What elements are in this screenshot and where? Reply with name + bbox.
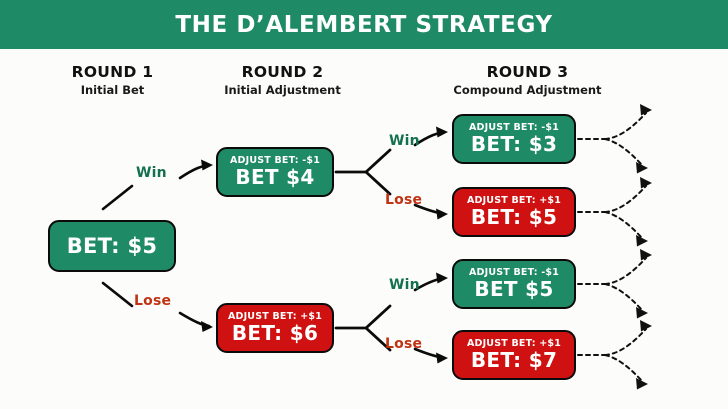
- arrow-r1-to-r2-win: [180, 165, 209, 178]
- outcome-label-round3-branch3: Win: [389, 278, 420, 292]
- connector-lines: [0, 0, 728, 409]
- continuation-arrowheads: [636, 104, 652, 390]
- bet-amount-round3-3: BET $5: [474, 279, 553, 300]
- round-3-header: ROUND 3 Compound Adjustment: [400, 64, 655, 97]
- arrow-r1-to-r2-lose: [180, 313, 209, 326]
- round-1-header: ROUND 1 Initial Bet: [20, 64, 205, 97]
- round-1-title: ROUND 1: [20, 64, 205, 82]
- bet-amount-round2-lose: BET: $6: [232, 323, 318, 344]
- bet-box-round3-3[interactable]: ADJUST BET: -$1 BET $5: [452, 259, 576, 309]
- round-2-subtitle: Initial Adjustment: [190, 84, 375, 97]
- title-banner: THE D’ALEMBERT STRATEGY: [0, 0, 728, 49]
- bet-amount-round2-win: BET $4: [235, 167, 314, 188]
- page-title: THE D’ALEMBERT STRATEGY: [175, 12, 552, 38]
- arrowhead-r3-2: [436, 209, 448, 220]
- bet-box-round1[interactable]: BET: $5: [48, 220, 176, 272]
- arrowhead-r3-3: [436, 273, 448, 284]
- bet-amount-round3-1: BET: $3: [471, 134, 557, 155]
- bet-amount-round1: BET: $5: [67, 235, 158, 257]
- round1-win-stub: [103, 186, 132, 209]
- bet-box-round3-2[interactable]: ADJUST BET: +$1 BET: $5: [452, 187, 576, 237]
- bet-amount-round3-4: BET: $7: [471, 350, 557, 371]
- fork-down-r2-win: [366, 172, 390, 194]
- arrowhead-r3-4: [436, 353, 448, 364]
- round-3-title: ROUND 3: [400, 64, 655, 82]
- round-2-title: ROUND 2: [190, 64, 375, 82]
- outcome-label-round1-win: Win: [136, 166, 167, 180]
- fork-up-r2-win: [366, 150, 390, 172]
- adjust-label-round2-win: ADJUST BET: -$1: [230, 156, 320, 166]
- adjust-label-round2-lose: ADJUST BET: +$1: [228, 312, 322, 322]
- outcome-label-round3-branch2: Lose: [385, 193, 422, 207]
- bet-amount-round3-2: BET: $5: [471, 207, 557, 228]
- bet-box-round3-1[interactable]: ADJUST BET: -$1 BET: $3: [452, 114, 576, 164]
- arrowhead-r1-win: [201, 160, 213, 171]
- bet-box-round3-4[interactable]: ADJUST BET: +$1 BET: $7: [452, 330, 576, 380]
- round-1-subtitle: Initial Bet: [20, 84, 205, 97]
- fork-up-r2-lose: [366, 306, 390, 328]
- bet-box-round2-win[interactable]: ADJUST BET: -$1 BET $4: [216, 147, 334, 197]
- bet-box-round2-lose[interactable]: ADJUST BET: +$1 BET: $6: [216, 303, 334, 353]
- arrowhead-r1-lose: [201, 321, 213, 332]
- adjust-label-round3-4: ADJUST BET: +$1: [467, 339, 561, 349]
- diagram-canvas: THE D’ALEMBERT STRATEGY ROUND 1 Initial …: [0, 0, 728, 409]
- round-3-subtitle: Compound Adjustment: [400, 84, 655, 97]
- continuation-forks: [578, 113, 646, 381]
- adjust-label-round3-2: ADJUST BET: +$1: [467, 196, 561, 206]
- round1-lose-stub: [103, 283, 132, 306]
- adjust-label-round3-3: ADJUST BET: -$1: [469, 268, 559, 278]
- outcome-label-round3-branch1: Win: [389, 134, 420, 148]
- outcome-label-round3-branch4: Lose: [385, 337, 422, 351]
- round-2-header: ROUND 2 Initial Adjustment: [190, 64, 375, 97]
- adjust-label-round3-1: ADJUST BET: -$1: [469, 123, 559, 133]
- outcome-label-round1-lose: Lose: [134, 294, 171, 308]
- arrowhead-r3-1: [436, 127, 448, 138]
